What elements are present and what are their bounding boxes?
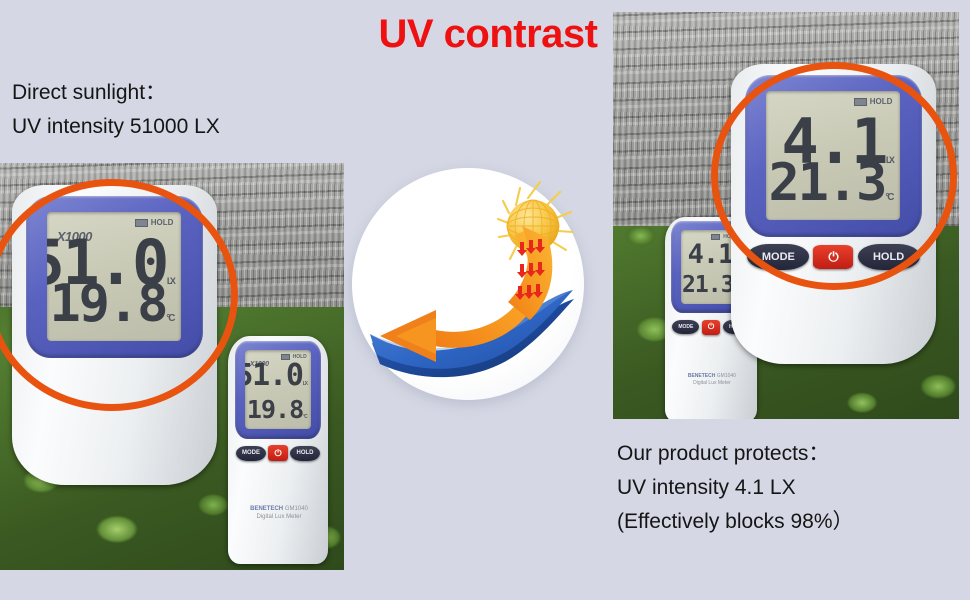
mode-button[interactable]: MODE <box>672 320 699 334</box>
left-caption: Direct sunlight： UV intensity 51000 LX <box>12 76 220 144</box>
lcd-temp-value: 21.3°C <box>682 274 738 297</box>
hold-button[interactable]: HOLD <box>858 244 920 270</box>
lcd-temp-value: 19.8°C <box>247 397 307 422</box>
lcd-temp-value: 19.8°C <box>49 278 173 330</box>
power-button[interactable]: ⏻ <box>268 445 288 461</box>
infographic-canvas: UV contrast Direct sunlight： UV intensit… <box>0 0 970 600</box>
meter-left-magnified: HOLD X1000 51.0LX 19.8°C <box>12 185 217 485</box>
lcd-lux-value: 4.1LX <box>688 241 738 268</box>
right-caption-line-3: (Effectively blocks 98%） <box>617 505 854 539</box>
hold-button[interactable]: HOLD <box>290 446 320 461</box>
illustration-graphics <box>352 168 584 400</box>
page-title: UV contrast <box>338 10 638 58</box>
mode-button[interactable]: MODE <box>236 446 266 461</box>
lcd-lux-unit: LX <box>303 381 307 387</box>
brand-model: GM1040 <box>717 373 736 379</box>
meter-branding: BENETECH GM1040 Digital Lux Meter <box>676 373 748 387</box>
brand-name: Digital Lux Meter <box>693 380 731 386</box>
uv-blocking-illustration <box>352 168 584 400</box>
meter-bezel: HOLD X1000 51.0LX 19.8°C <box>235 341 321 439</box>
meter-lcd: HOLD X1000 51.0LX 19.8°C <box>245 350 310 428</box>
mode-button[interactable]: MODE <box>747 244 809 270</box>
lcd-temp-value: 21.3°C <box>768 157 892 209</box>
lcd-temp-unit: °C <box>303 414 307 420</box>
left-caption-line-2: UV intensity 51000 LX <box>12 110 220 144</box>
photo-direct-sunlight: HOLD X1000 51.0LX 19.8°C HOLD <box>0 163 344 570</box>
meter-button-row: MODE ⏻ HOLD <box>236 445 320 461</box>
right-caption: Our product protects： UV intensity 4.1 L… <box>617 437 854 539</box>
photo-with-product: HOLD 4.1LX 21.3°C MODE ⏻ HOLD BENETECH G… <box>613 12 959 419</box>
lcd-lux-value: 51.0LX <box>245 361 306 391</box>
meter-lcd: HOLD X1000 51.0LX 19.8°C <box>47 212 181 342</box>
meter-branding: BENETECH GM1040 Digital Lux Meter <box>240 505 318 521</box>
brand-model: GM1040 <box>285 506 308 512</box>
lcd-temp-unit: °C <box>885 192 892 203</box>
brand-mark: BENETECH <box>250 506 283 512</box>
lcd-temp-unit: °C <box>166 313 173 324</box>
meter-bezel: HOLD 4.1LX 21.3°C <box>745 75 921 237</box>
meter-right-magnified: HOLD 4.1LX 21.3°C MODE ⏻ HOLD <box>731 64 936 364</box>
left-caption-line-1: Direct sunlight： <box>12 76 220 110</box>
meter-left-device: HOLD X1000 51.0LX 19.8°C MODE ⏻ HOLD BEN… <box>228 336 328 564</box>
brand-name: Digital Lux Meter <box>256 514 301 520</box>
power-button[interactable]: ⏻ <box>813 245 853 269</box>
meter-button-row: MODE ⏻ HOLD <box>747 244 919 270</box>
brand-mark: BENETECH <box>688 373 716 379</box>
right-caption-line-2: UV intensity 4.1 LX <box>617 471 854 505</box>
meter-bezel: HOLD X1000 51.0LX 19.8°C <box>26 196 202 358</box>
power-button[interactable]: ⏻ <box>702 320 720 335</box>
right-caption-line-1: Our product protects： <box>617 437 854 471</box>
meter-lcd: HOLD 4.1LX 21.3°C <box>766 91 900 221</box>
